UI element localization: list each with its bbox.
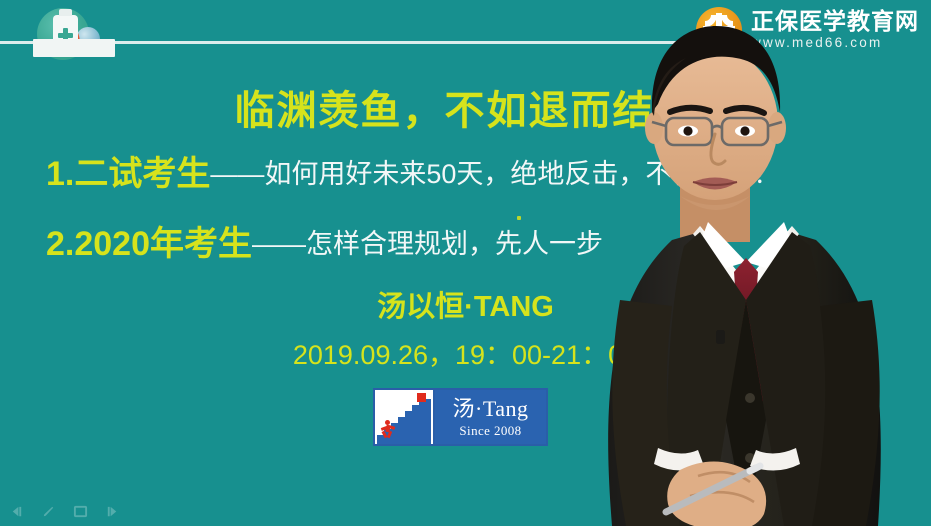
tang-runner-icon: [381, 420, 395, 438]
ppt-control-bar[interactable]: [9, 504, 120, 519]
slide-artifact-dot: [517, 216, 521, 220]
next-slide-icon[interactable]: [105, 504, 120, 519]
pen-annotation-icon[interactable]: [41, 504, 56, 519]
tang-flag-icon: [417, 393, 426, 402]
bullet-2-key: 2.2020年考生: [46, 225, 252, 263]
tang-stairs-graphic: [375, 390, 435, 444]
tang-logo-name: 汤·Tang: [453, 398, 529, 420]
bullet-1-key: 1.二试考生: [46, 155, 210, 193]
bullet-2-dash: ——: [252, 229, 306, 259]
tang-logo-since: Since 2008: [459, 424, 521, 437]
bullet-item-2: 2.2020年考生——怎样合理规划，先人一步: [46, 227, 603, 261]
presentation-slide: 正保医学教育网 www.med66.com 临渊羡鱼，不如退而结网 1.二试考生…: [0, 0, 931, 526]
all-slides-icon[interactable]: [73, 504, 88, 519]
presenter-video: [560, 0, 931, 526]
tang-logo: 汤·Tang Since 2008: [373, 388, 548, 446]
bullet-1-dash: ——: [210, 159, 264, 189]
bullet-2-text: 怎样合理规划，先人一步: [306, 229, 603, 259]
medicine-shelf: [33, 39, 115, 57]
previous-slide-icon[interactable]: [9, 504, 24, 519]
